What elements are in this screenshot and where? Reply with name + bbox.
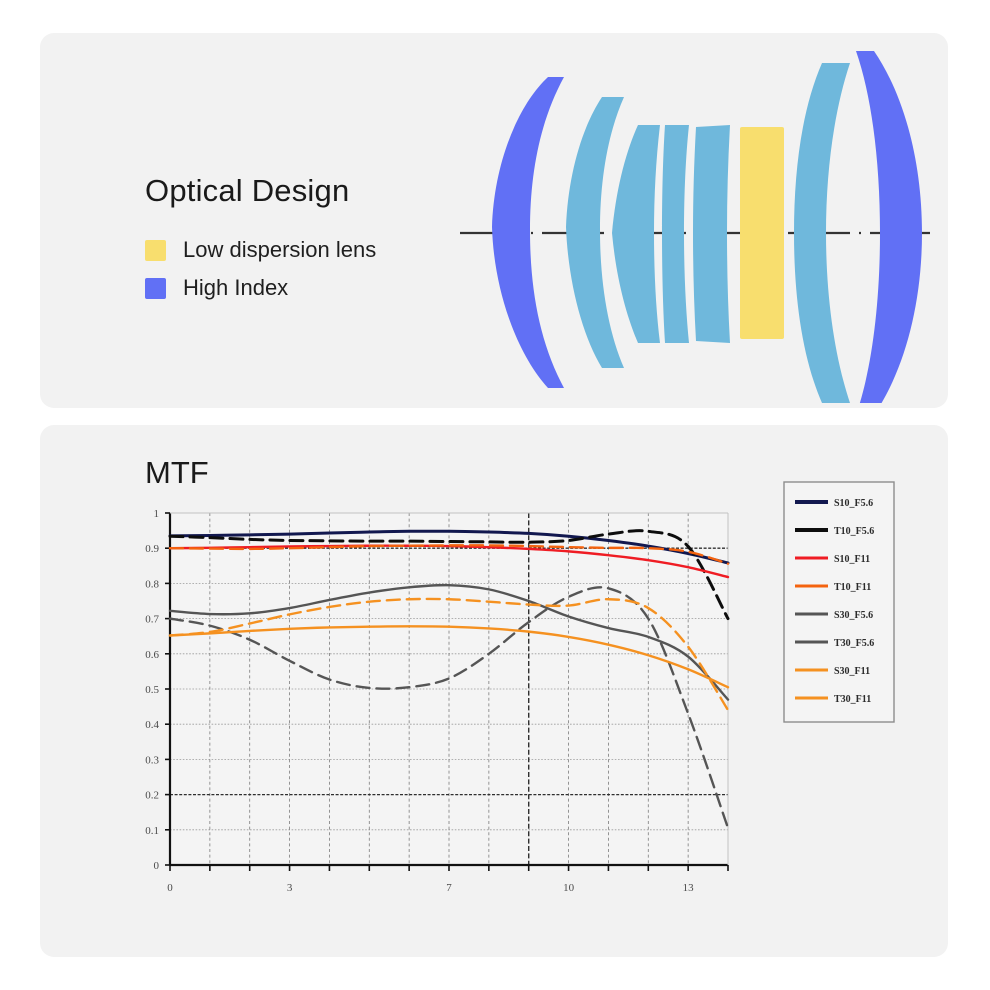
chart-minor-gridlines [170,513,728,865]
legend-label-s30-f11: S30_F11 [834,666,870,677]
legend-label-t10-f5-6: T10_F5.6 [834,526,874,537]
y-tick-label: 0 [154,860,160,872]
lens-cross-section-diagram [460,43,930,403]
y-tick-label: 0.8 [145,578,159,590]
legend-label-low-dispersion: Low dispersion lens [183,237,376,263]
optical-design-title: Optical Design [145,173,349,209]
chart-legend: S10_F5.6T10_F5.6S10_F11T10_F11S30_F5.6T3… [784,482,894,722]
lens-element-3 [612,125,660,343]
legend-label-s10-f5-6: S10_F5.6 [834,498,873,509]
x-tick-label: 13 [683,882,695,894]
y-tick-label: 0.3 [145,754,159,766]
high-index-swatch [145,278,166,299]
legend-label-s10-f11: S10_F11 [834,554,870,565]
x-tick-label: 0 [167,882,173,894]
x-tick-label: 10 [563,882,575,894]
y-tick-label: 0.5 [145,684,159,696]
mtf-chart: 00.10.20.30.40.50.60.70.80.91 0371013 S1… [40,425,948,957]
mtf-panel: MTF 00.10.20.30.40.50.60.70.80.91 037101… [40,425,948,957]
legend-label-t30-f11: T30_F11 [834,694,871,705]
lens-element-7 [856,51,922,403]
x-tick-label: 3 [287,882,293,894]
legend-item-low-dispersion: Low dispersion lens [145,231,475,269]
low-dispersion-swatch [145,240,166,261]
y-tick-label: 0.1 [145,825,159,837]
y-tick-label: 0.9 [145,543,159,555]
legend-box [784,482,894,722]
x-tick-label: 7 [446,882,452,894]
lens-element-5 [693,125,730,343]
y-tick-label: 1 [154,508,160,520]
legend-label-s30-f5-6: S30_F5.6 [834,610,873,621]
chart-x-tick-labels: 0371013 [167,882,694,894]
y-tick-label: 0.7 [145,614,159,626]
chart-y-tick-labels: 00.10.20.30.40.50.60.70.80.91 [145,508,159,872]
y-tick-label: 0.2 [145,790,159,802]
legend-label-t30-f5-6: T30_F5.6 [834,638,874,649]
optical-design-legend: Low dispersion lens High Index [145,231,475,307]
y-tick-label: 0.6 [145,649,159,661]
legend-label-t10-f11: T10_F11 [834,582,871,593]
optical-design-panel: Optical Design Low dispersion lens High … [40,33,948,408]
legend-label-high-index: High Index [183,275,288,301]
lens-element-low-dispersion [740,127,784,339]
y-tick-label: 0.4 [145,719,159,731]
legend-item-high-index: High Index [145,269,475,307]
